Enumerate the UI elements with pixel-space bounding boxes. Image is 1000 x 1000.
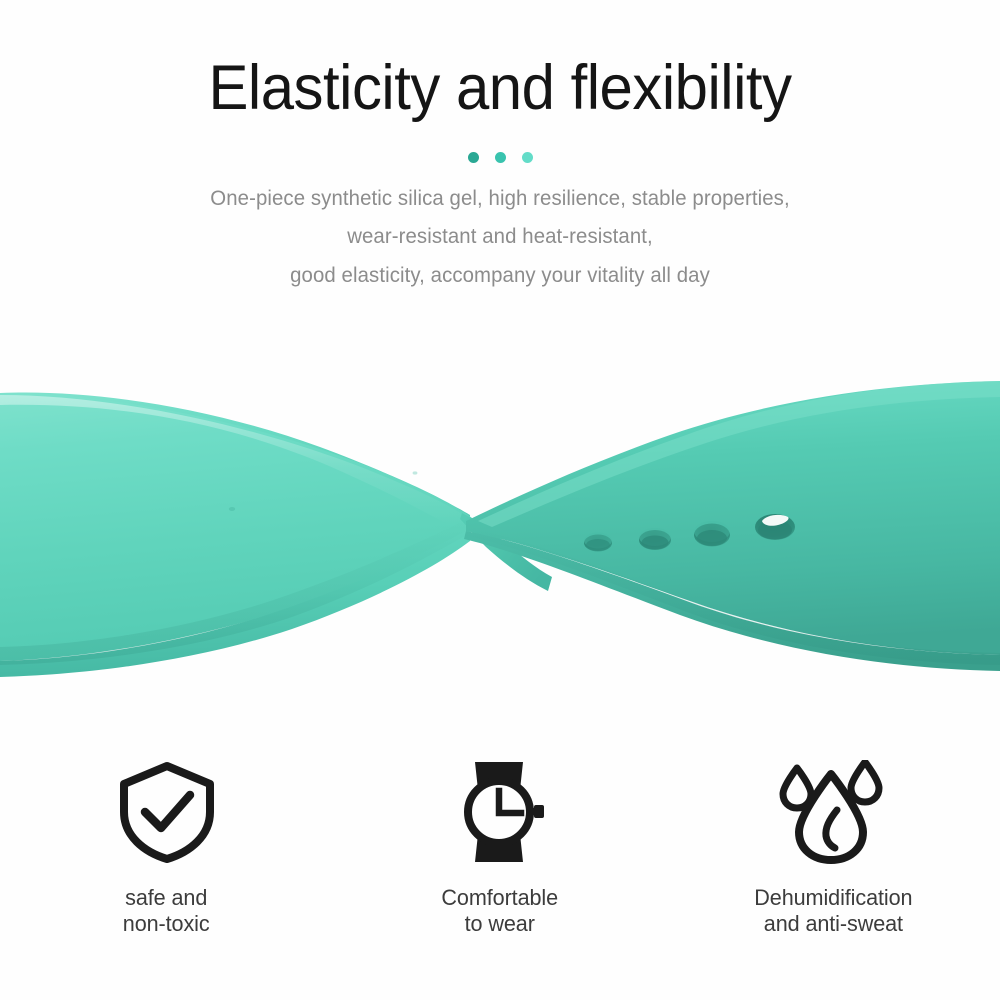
dot-separator xyxy=(0,150,1000,164)
header: Elasticity and flexibility One-piece syn… xyxy=(0,0,1000,289)
subtitle-line-3: good elasticity, accompany your vitality… xyxy=(15,263,985,289)
shield-check-icon xyxy=(116,760,218,865)
feature-item-safe: safe and non-toxic xyxy=(0,760,333,960)
feature-item-comfort: Comfortable to wear xyxy=(333,760,666,960)
band-surface-speck xyxy=(229,507,235,511)
subtitle-line-1: One-piece synthetic silica gel, high res… xyxy=(15,186,985,212)
product-feature-page: Elasticity and flexibility One-piece syn… xyxy=(0,0,1000,1000)
product-image xyxy=(0,355,1000,695)
water-drops-icon xyxy=(777,760,889,865)
feature-label-comfort: Comfortable to wear xyxy=(442,885,559,938)
dot-1-icon xyxy=(468,152,479,163)
twisted-band-illustration xyxy=(0,355,1000,695)
feature-label-dehumidification: Dehumidification and anti-sweat xyxy=(754,885,912,938)
subtitle-block: One-piece synthetic silica gel, high res… xyxy=(0,186,1000,289)
adjustment-hole-4-punched xyxy=(755,514,795,540)
band-surface-speck-2 xyxy=(413,471,418,474)
dot-2-icon xyxy=(495,152,506,163)
dot-3-icon xyxy=(522,152,533,163)
adjustment-hole-2 xyxy=(639,528,671,550)
feature-item-dehumidification: Dehumidification and anti-sweat xyxy=(667,760,1000,960)
feature-row: safe and non-toxic Comfor xyxy=(0,760,1000,960)
page-title: Elasticity and flexibility xyxy=(25,0,975,120)
adjustment-hole-3 xyxy=(694,521,730,547)
wristwatch-icon xyxy=(450,760,550,865)
adjustment-hole-1 xyxy=(584,533,612,552)
feature-label-safe: safe and non-toxic xyxy=(123,885,210,938)
subtitle-line-2: wear-resistant and heat-resistant, xyxy=(15,224,985,250)
